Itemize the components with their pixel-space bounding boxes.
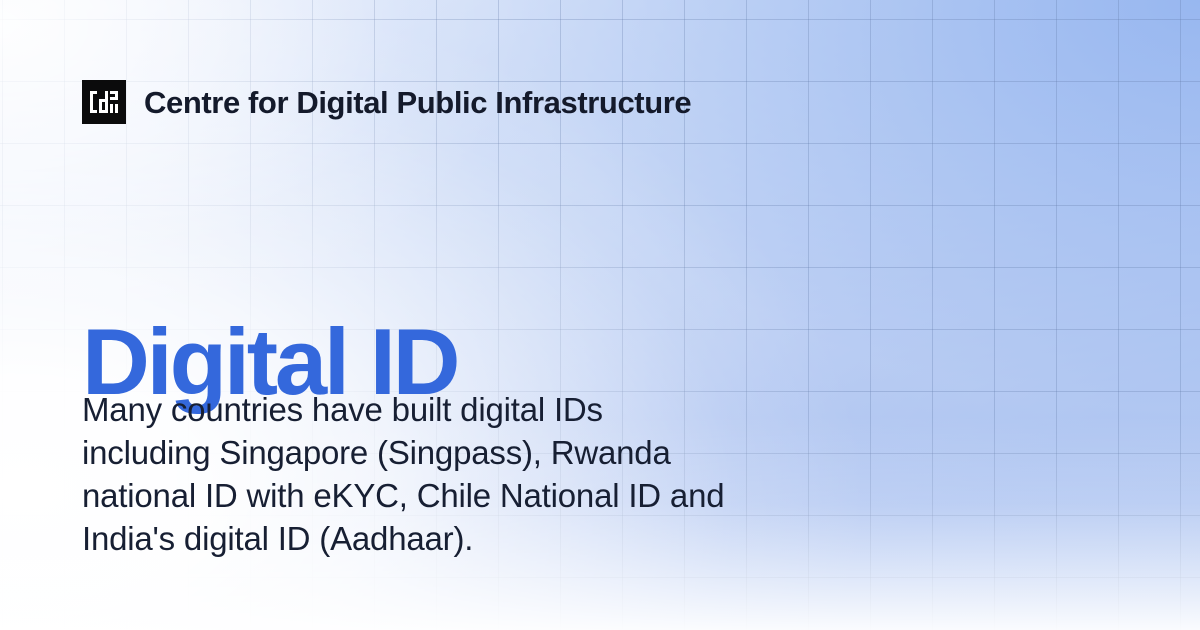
og-card: Centre for Digital Public Infrastructure… [0,0,1200,630]
page-description: Many countries have built digital IDs in… [82,388,872,560]
description-line: national ID with eKYC, Chile National ID… [82,474,872,517]
brand-lockup: Centre for Digital Public Infrastructure [82,80,691,124]
brand-title: Centre for Digital Public Infrastructure [144,87,691,118]
description-line: including Singapore (Singpass), Rwanda [82,431,872,474]
description-line: India's digital ID (Aadhaar). [82,517,872,560]
cdpi-monogram-icon [82,80,126,124]
description-line: Many countries have built digital IDs [82,388,872,431]
card-content: Centre for Digital Public Infrastructure… [0,0,1200,630]
